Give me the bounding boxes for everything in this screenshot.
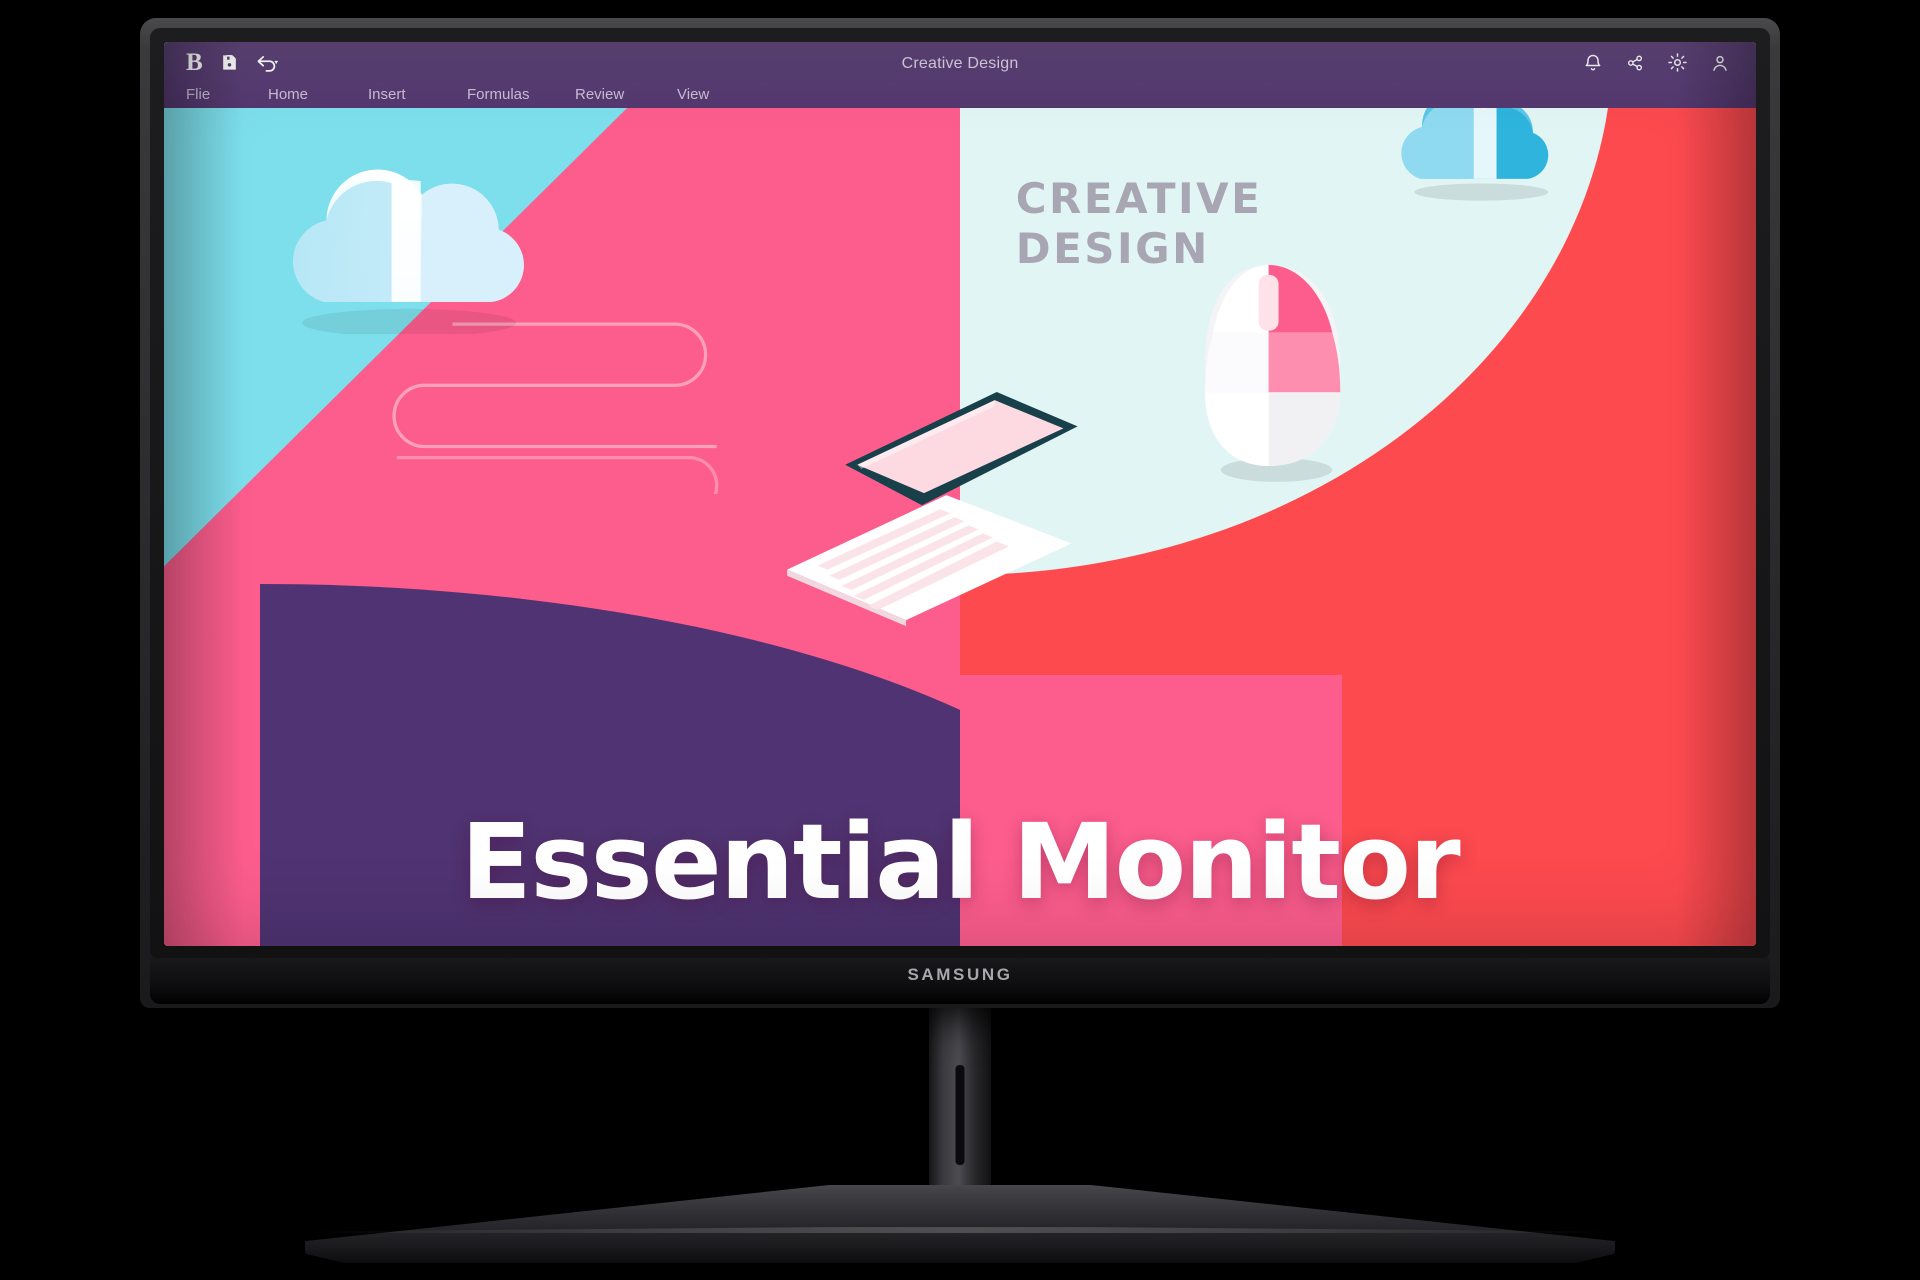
undo-icon[interactable] bbox=[256, 53, 280, 72]
poster-subtitle-line-2: DESIGN bbox=[1016, 224, 1263, 274]
screenshot-root: CREATIVE DESIGN Essential Monitor B bbox=[0, 0, 1920, 1280]
quick-access-toolbar: B bbox=[186, 50, 280, 75]
bell-icon[interactable] bbox=[1583, 53, 1603, 73]
poster-subtitle-line-1: CREATIVE bbox=[1016, 174, 1263, 224]
keyboard-icon bbox=[777, 485, 1079, 626]
swirl-lines-icon bbox=[307, 313, 848, 494]
app-titlebar: B bbox=[164, 42, 1756, 108]
monitor-chin: SAMSUNG bbox=[150, 958, 1770, 1004]
menu-item-review[interactable]: Review bbox=[575, 86, 677, 103]
cloud-left-icon bbox=[252, 160, 554, 335]
app-menubar: Flie Home Insert Formulas Review View bbox=[164, 80, 1756, 108]
monitor-stand-base-surface bbox=[305, 1185, 1615, 1263]
menu-item-view[interactable]: View bbox=[677, 86, 709, 103]
computer-mouse-icon bbox=[1191, 259, 1350, 488]
poster-artwork: CREATIVE DESIGN Essential Monitor bbox=[164, 42, 1756, 946]
app-logo: B bbox=[186, 50, 203, 75]
gear-icon[interactable] bbox=[1667, 52, 1688, 73]
monitor-bezel: CREATIVE DESIGN Essential Monitor B bbox=[150, 28, 1770, 960]
save-icon[interactable] bbox=[220, 53, 239, 72]
user-icon[interactable] bbox=[1710, 53, 1730, 73]
samsung-logo: SAMSUNG bbox=[907, 965, 1012, 985]
poster-headline: Essential Monitor bbox=[164, 810, 1756, 914]
monitor-body: CREATIVE DESIGN Essential Monitor B bbox=[140, 18, 1780, 1008]
monitor-screen: CREATIVE DESIGN Essential Monitor B bbox=[164, 42, 1756, 946]
menu-item-file[interactable]: Flie bbox=[186, 86, 268, 103]
monitor-stand-cable-slot bbox=[956, 1065, 965, 1165]
undo-dropdown-caret-icon bbox=[274, 61, 278, 64]
menu-item-formulas[interactable]: Formulas bbox=[467, 86, 575, 103]
share-nodes-icon[interactable] bbox=[1625, 53, 1645, 73]
monitor-stand-base bbox=[305, 1185, 1615, 1263]
menu-item-home[interactable]: Home bbox=[268, 86, 368, 103]
poster-subtitle: CREATIVE DESIGN bbox=[1016, 174, 1263, 273]
menu-item-insert[interactable]: Insert bbox=[368, 86, 467, 103]
app-title: Creative Design bbox=[902, 55, 1019, 73]
titlebar-status-icons bbox=[1583, 52, 1730, 73]
